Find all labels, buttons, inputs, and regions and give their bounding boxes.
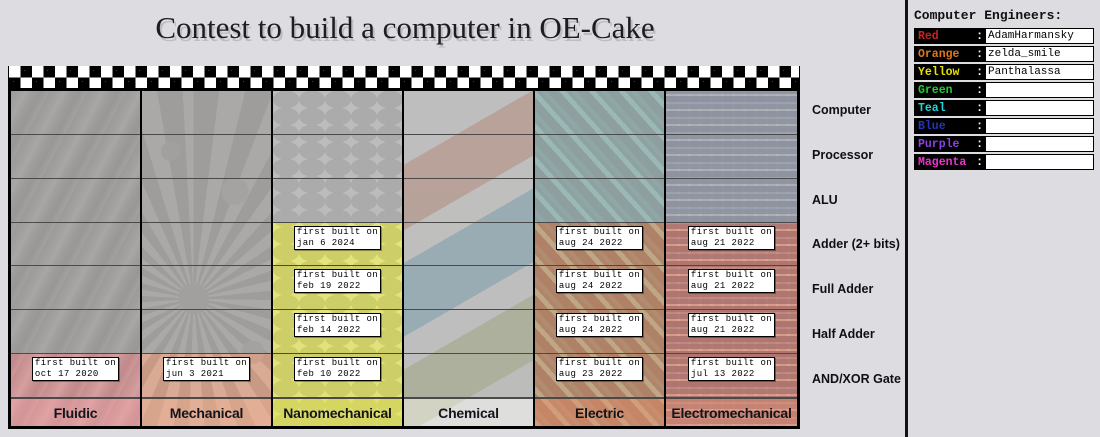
column-header-electric[interactable]: Electric (535, 398, 664, 426)
row-label-processor: Processor (800, 133, 905, 178)
badge-date: oct 17 2020 (35, 369, 116, 380)
row-label-and-xor-gate: AND/XOR Gate (800, 356, 905, 401)
first-built-badge: first built onoct 17 2020 (32, 357, 119, 381)
badge-label: first built on (691, 358, 772, 369)
grid-cell[interactable]: first built onfeb 10 2022 (273, 354, 402, 398)
legend-color-label: Magenta: (914, 154, 986, 170)
grid-cell[interactable]: first built onaug 24 2022 (535, 223, 664, 267)
checkered-divider (8, 66, 800, 89)
first-built-badge: first built onjan 6 2024 (294, 226, 381, 250)
legend-rows: Red:AdamHarmanskyOrange:zelda_smileYello… (914, 28, 1094, 170)
legend-color-label: Blue: (914, 118, 986, 134)
first-built-badge: first built onaug 23 2022 (556, 357, 643, 381)
legend-color-name: Yellow (918, 66, 959, 79)
grid-column-electromechanical[interactable]: first built onaug 21 2022first built ona… (666, 91, 797, 426)
legend-colon: : (976, 102, 983, 115)
row-label-text: Processor (812, 148, 873, 162)
page-title: Contest to build a computer in OE-Cake (0, 10, 810, 46)
legend-color-name: Teal (918, 102, 946, 115)
legend-color-label: Green: (914, 82, 986, 98)
engineer-name-text: zelda_smile (988, 48, 1061, 60)
grid-cell[interactable] (404, 266, 533, 310)
column-header-chemical[interactable]: Chemical (404, 398, 533, 426)
legend-colon: : (976, 30, 983, 43)
badge-label: first built on (297, 358, 378, 369)
first-built-badge: first built onaug 21 2022 (688, 226, 775, 250)
row-label-alu: ALU (800, 177, 905, 222)
grid-cell[interactable]: first built onjun 3 2021 (142, 354, 271, 398)
badge-label: first built on (35, 358, 116, 369)
legend-row-red: Red:AdamHarmansky (914, 28, 1094, 44)
grid-cell[interactable] (11, 223, 140, 267)
grid-column-fluidic[interactable]: first built onoct 17 2020Fluidic (11, 91, 142, 426)
grid-cell[interactable] (404, 354, 533, 398)
legend-row-magenta: Magenta: (914, 154, 1094, 170)
grid-cell[interactable] (404, 91, 533, 135)
column-header-label: Nanomechanical (283, 405, 391, 421)
legend-color-label: Yellow: (914, 64, 986, 80)
badge-date: jul 13 2022 (691, 369, 772, 380)
engineer-name-field[interactable] (986, 154, 1094, 170)
legend-color-name: Blue (918, 120, 946, 133)
grid-cell[interactable] (11, 179, 140, 223)
legend-color-name: Purple (918, 138, 959, 151)
badge-label: first built on (559, 270, 640, 281)
legend-color-name: Green (918, 84, 953, 97)
first-built-badge: first built onaug 21 2022 (688, 269, 775, 293)
legend-row-blue: Blue: (914, 118, 1094, 134)
grid-column-nanomechanical[interactable]: first built onjan 6 2024first built onfe… (273, 91, 404, 426)
row-label-adder-2-bits: Adder (2+ bits) (800, 222, 905, 267)
main-area: Contest to build a computer in OE-Cake f… (0, 0, 905, 437)
engineer-name-text: Panthalassa (988, 66, 1061, 78)
first-built-badge: first built onfeb 14 2022 (294, 313, 381, 337)
grid-cell[interactable]: first built onfeb 19 2022 (273, 266, 402, 310)
first-built-badge: first built onjul 13 2022 (688, 357, 775, 381)
legend-color-label: Teal: (914, 100, 986, 116)
row-label-half-adder: Half Adder (800, 312, 905, 357)
technology-grid: first built onoct 17 2020Fluidicfirst bu… (8, 88, 800, 429)
grid-cell[interactable]: first built onaug 21 2022 (666, 223, 797, 267)
badge-label: first built on (559, 227, 640, 238)
grid-cell[interactable] (11, 266, 140, 310)
grid-cell[interactable] (535, 91, 664, 135)
grid-cell[interactable] (273, 91, 402, 135)
grid-cell[interactable]: first built onaug 21 2022 (666, 310, 797, 354)
badge-label: first built on (691, 227, 772, 238)
badge-date: jan 6 2024 (297, 238, 378, 249)
row-label-text: ALU (812, 193, 838, 207)
legend-colon: : (976, 156, 983, 169)
legend-row-yellow: Yellow:Panthalassa (914, 64, 1094, 80)
legend-color-name: Magenta (918, 156, 966, 169)
technology-grid-columns: first built onoct 17 2020Fluidicfirst bu… (11, 91, 797, 426)
badge-date: aug 21 2022 (691, 238, 772, 249)
row-label-text: Full Adder (812, 282, 873, 296)
engineer-name-field[interactable] (986, 136, 1094, 152)
engineer-name-field[interactable] (986, 100, 1094, 116)
grid-column-chemical[interactable]: Chemical (404, 91, 535, 426)
grid-cell[interactable] (142, 179, 271, 223)
badge-date: aug 24 2022 (559, 238, 640, 249)
grid-cell[interactable] (11, 135, 140, 179)
contest-progress-page: Contest to build a computer in OE-Cake f… (0, 0, 1100, 437)
badge-date: feb 19 2022 (297, 281, 378, 292)
grid-cell[interactable] (11, 310, 140, 354)
column-header-label: Chemical (438, 405, 499, 421)
badge-label: first built on (691, 314, 772, 325)
grid-cell[interactable] (142, 91, 271, 135)
grid-cell[interactable] (142, 223, 271, 267)
grid-cell[interactable]: first built onjul 13 2022 (666, 354, 797, 398)
legend-color-label: Orange: (914, 46, 986, 62)
legend-colon: : (976, 66, 983, 79)
column-header-label: Mechanical (170, 405, 243, 421)
first-built-badge: first built onaug 24 2022 (556, 226, 643, 250)
legend-row-teal: Teal: (914, 100, 1094, 116)
first-built-badge: first built onfeb 19 2022 (294, 269, 381, 293)
badge-label: first built on (297, 227, 378, 238)
row-label-text: Half Adder (812, 327, 875, 341)
badge-date: aug 21 2022 (691, 281, 772, 292)
column-header-label: Fluidic (54, 405, 98, 421)
grid-cell[interactable] (535, 179, 664, 223)
first-built-badge: first built onaug 24 2022 (556, 269, 643, 293)
legend-color-name: Red (918, 30, 939, 43)
grid-cell[interactable] (404, 223, 533, 267)
first-built-badge: first built onjun 3 2021 (163, 357, 250, 381)
first-built-badge: first built onfeb 10 2022 (294, 357, 381, 381)
grid-cell[interactable]: first built onjan 6 2024 (273, 223, 402, 267)
row-label-computer: Computer (800, 88, 905, 133)
grid-cell[interactable] (404, 179, 533, 223)
legend-color-label: Red: (914, 28, 986, 44)
column-header-nanomechanical[interactable]: Nanomechanical (273, 398, 402, 426)
grid-cell[interactable]: first built onfeb 14 2022 (273, 310, 402, 354)
badge-date: aug 23 2022 (559, 369, 640, 380)
legend-colon: : (976, 84, 983, 97)
badge-label: first built on (297, 314, 378, 325)
grid-cell[interactable] (11, 91, 140, 135)
engineer-name-field[interactable] (986, 118, 1094, 134)
badge-label: first built on (559, 358, 640, 369)
legend-color-name: Orange (918, 48, 959, 61)
grid-cell[interactable] (142, 266, 271, 310)
grid-cell[interactable]: first built onaug 24 2022 (535, 310, 664, 354)
grid-cell[interactable] (666, 135, 797, 179)
legend-colon: : (976, 138, 983, 151)
legend-colon: : (976, 48, 983, 61)
engineer-name-text: AdamHarmansky (988, 30, 1074, 42)
grid-cell[interactable] (273, 179, 402, 223)
column-header-label: Electromechanical (671, 405, 791, 421)
grid-column-mechanical[interactable]: first built onjun 3 2021Mechanical (142, 91, 273, 426)
row-label-full-adder: Full Adder (800, 267, 905, 312)
row-label-text: AND/XOR Gate (812, 372, 901, 386)
row-label-text: Adder (2+ bits) (812, 237, 900, 251)
grid-cell[interactable] (142, 310, 271, 354)
grid-cell[interactable] (404, 310, 533, 354)
column-header-label: Electric (575, 405, 624, 421)
badge-label: first built on (559, 314, 640, 325)
grid-cell[interactable]: first built onaug 23 2022 (535, 354, 664, 398)
legend-row-green: Green: (914, 82, 1094, 98)
grid-column-electric[interactable]: first built onaug 24 2022first built ona… (535, 91, 666, 426)
badge-date: aug 21 2022 (691, 325, 772, 336)
grid-cell[interactable] (666, 91, 797, 135)
row-label-column: ComputerProcessorALUAdder (2+ bits)Full … (800, 88, 905, 429)
engineer-name-field[interactable]: AdamHarmansky (986, 28, 1094, 44)
engineer-name-field[interactable]: zelda_smile (986, 46, 1094, 62)
legend-color-label: Purple: (914, 136, 986, 152)
column-header-fluidic[interactable]: Fluidic (11, 398, 140, 426)
badge-date: aug 24 2022 (559, 325, 640, 336)
grid-cell[interactable] (142, 135, 271, 179)
badge-label: first built on (691, 270, 772, 281)
badge-label: first built on (166, 358, 247, 369)
grid-cell[interactable]: first built onaug 21 2022 (666, 266, 797, 310)
legend-row-purple: Purple: (914, 136, 1094, 152)
engineer-name-field[interactable] (986, 82, 1094, 98)
grid-cell[interactable] (666, 179, 797, 223)
engineer-name-field[interactable]: Panthalassa (986, 64, 1094, 80)
grid-cell[interactable] (404, 135, 533, 179)
column-header-mechanical[interactable]: Mechanical (142, 398, 271, 426)
legend-row-orange: Orange:zelda_smile (914, 46, 1094, 62)
column-header-electromechanical[interactable]: Electromechanical (666, 398, 797, 426)
legend-colon: : (976, 120, 983, 133)
legend-title: Computer Engineers: (914, 8, 1094, 23)
grid-cell[interactable] (273, 135, 402, 179)
row-label-text: Computer (812, 103, 871, 117)
grid-cell[interactable]: first built onoct 17 2020 (11, 354, 140, 398)
badge-date: feb 10 2022 (297, 369, 378, 380)
first-built-badge: first built onaug 21 2022 (688, 313, 775, 337)
grid-cell[interactable] (535, 135, 664, 179)
badge-date: aug 24 2022 (559, 281, 640, 292)
engineers-legend-panel: Computer Engineers: Red:AdamHarmanskyOra… (908, 0, 1100, 437)
badge-date: jun 3 2021 (166, 369, 247, 380)
first-built-badge: first built onaug 24 2022 (556, 313, 643, 337)
badge-date: feb 14 2022 (297, 325, 378, 336)
badge-label: first built on (297, 270, 378, 281)
grid-cell[interactable]: first built onaug 24 2022 (535, 266, 664, 310)
